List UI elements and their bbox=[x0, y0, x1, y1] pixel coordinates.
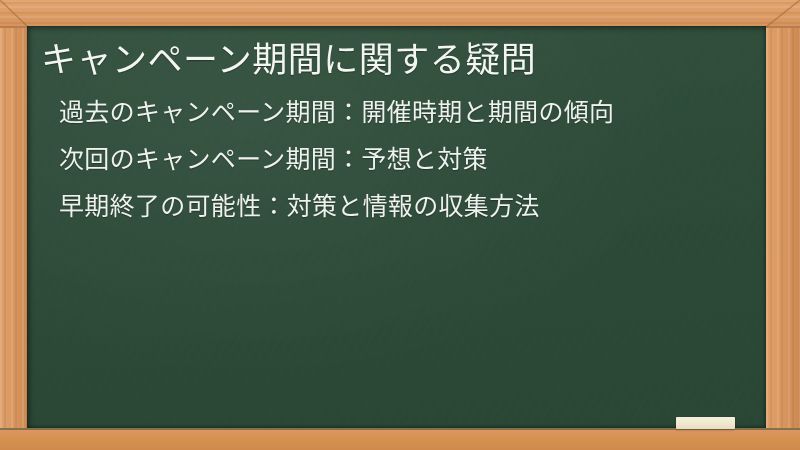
chalk-tray bbox=[0, 428, 800, 450]
chalkboard-slide: キャンペーン期間に関する疑問 過去のキャンペーン期間：開催時期と期間の傾向 次回… bbox=[0, 0, 800, 450]
frame-rail-right bbox=[766, 26, 800, 450]
blackboard-eraser bbox=[676, 417, 735, 429]
bullet-item-1: 過去のキャンペーン期間：開催時期と期間の傾向 bbox=[59, 100, 744, 125]
chalkboard-surface: キャンペーン期間に関する疑問 過去のキャンペーン期間：開催時期と期間の傾向 次回… bbox=[27, 26, 766, 428]
bullet-item-2: 次回のキャンペーン期間：予想と対策 bbox=[59, 147, 744, 172]
slide-content: キャンペーン期間に関する疑問 過去のキャンペーン期間：開催時期と期間の傾向 次回… bbox=[27, 26, 766, 219]
bullet-list: 過去のキャンペーン期間：開催時期と期間の傾向 次回のキャンペーン期間：予想と対策… bbox=[41, 100, 744, 219]
frame-rail-left bbox=[0, 26, 28, 450]
bullet-item-3: 早期終了の可能性：対策と情報の収集方法 bbox=[59, 194, 744, 219]
frame-rail-top bbox=[0, 0, 800, 28]
slide-title: キャンペーン期間に関する疑問 bbox=[41, 40, 744, 84]
